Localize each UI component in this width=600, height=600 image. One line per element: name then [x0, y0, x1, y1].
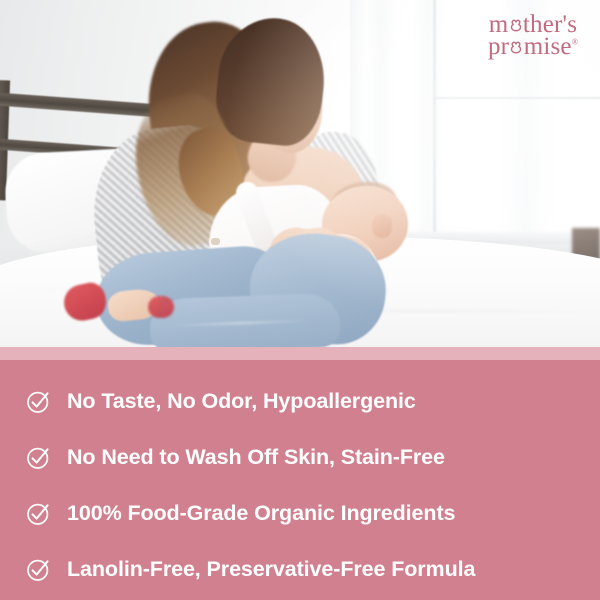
hero-photo: m ther's pr mise® [0, 0, 600, 348]
check-circle-icon [26, 445, 51, 470]
brand-logo: m ther's pr mise® [488, 12, 578, 59]
feature-label: 100% Food-Grade Organic Ingredients [67, 503, 455, 525]
panel-divider-strip [0, 347, 600, 360]
brand-logo-mise: mise [524, 33, 572, 60]
heart-o-icon [509, 19, 523, 33]
feature-item: No Need to Wash Off Skin, Stain-Free [0, 430, 600, 486]
check-circle-icon [26, 501, 51, 526]
check-circle-icon [26, 389, 51, 414]
wedding-ring [211, 238, 220, 245]
baby-ear [372, 214, 392, 238]
feature-label: No Need to Wash Off Skin, Stain-Free [67, 447, 445, 469]
feature-label: No Taste, No Odor, Hypoallergenic [67, 391, 416, 413]
feature-list-panel: No Taste, No Odor, Hypoallergenic No Nee… [0, 360, 600, 600]
jeans-seam [170, 320, 310, 327]
feature-item: 100% Food-Grade Organic Ingredients [0, 486, 600, 542]
brand-logo-line-promise: pr mise® [488, 34, 578, 59]
heart-o-icon [509, 41, 523, 55]
product-listing-image: m ther's pr mise® [0, 0, 600, 600]
feature-label: Lanolin-Free, Preservative-Free Formula [67, 559, 475, 581]
check-circle-icon [26, 557, 51, 582]
jeans-shin [149, 293, 341, 348]
feature-item: Lanolin-Free, Preservative-Free Formula [0, 542, 600, 598]
red-sock [148, 296, 174, 318]
feature-item: No Taste, No Odor, Hypoallergenic [0, 374, 600, 430]
brand-logo-pr: pr [488, 33, 509, 60]
registered-trademark-mark: ® [572, 38, 578, 47]
